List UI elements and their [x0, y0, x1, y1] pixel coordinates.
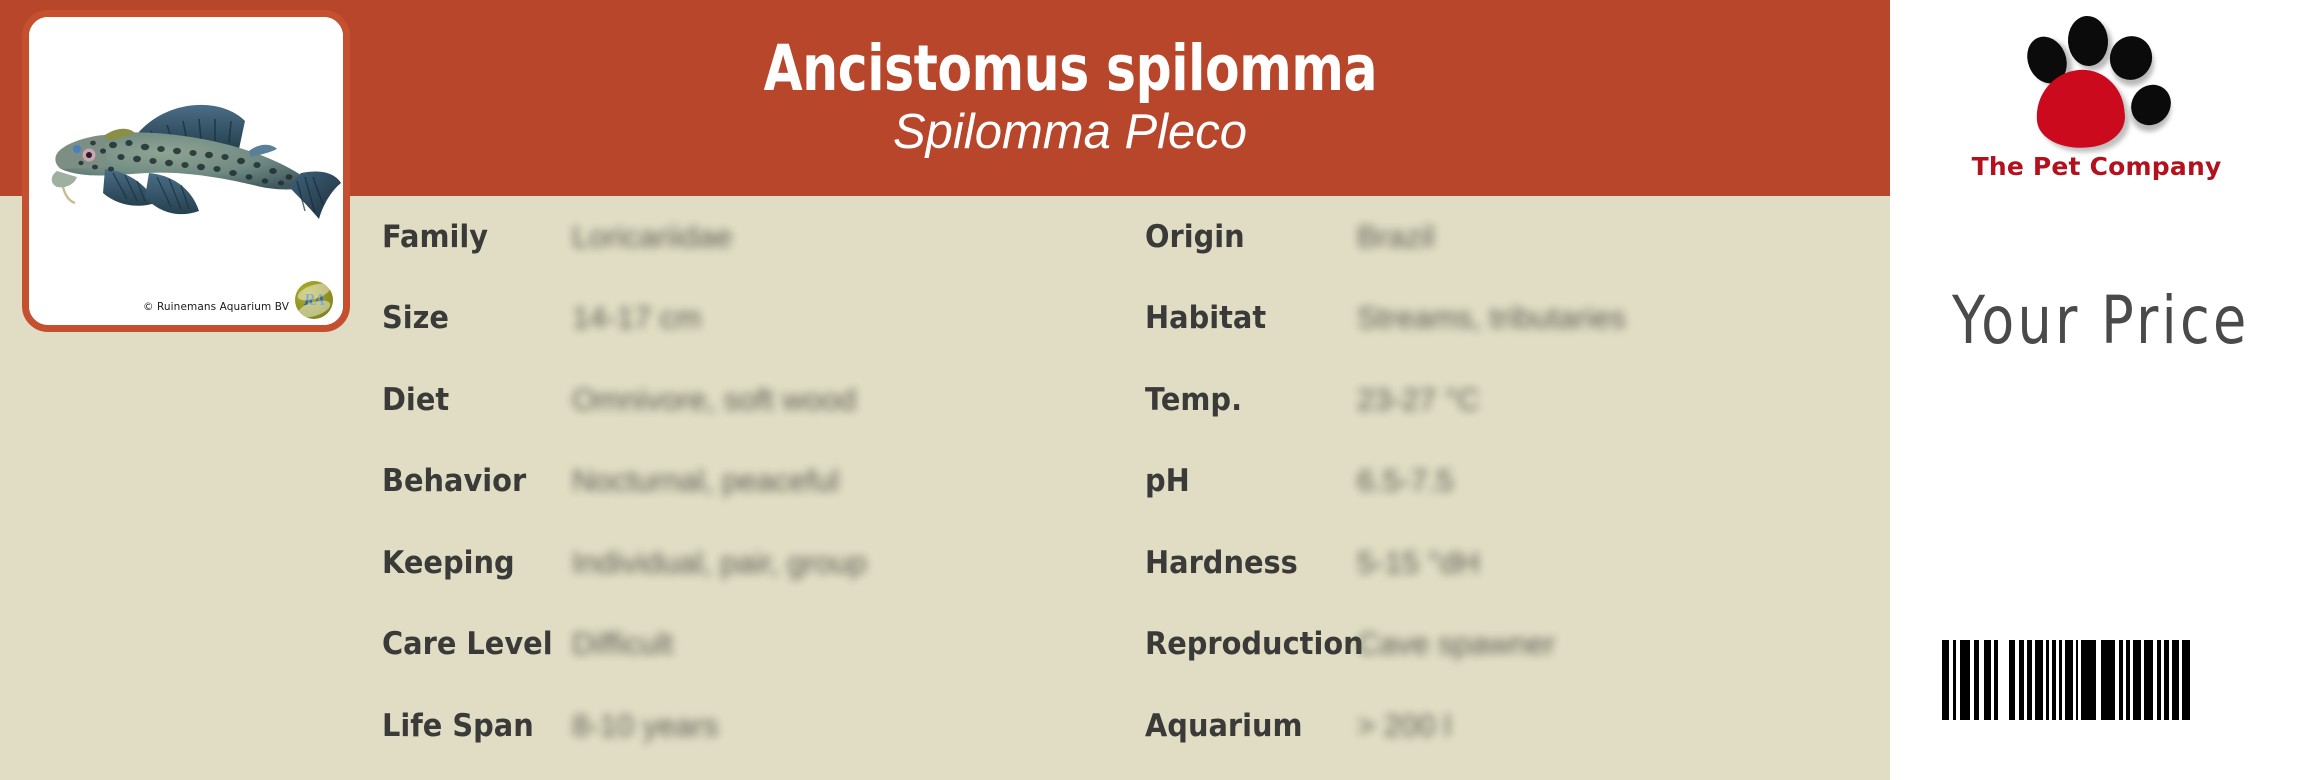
spec-row: Family Loricariidae — [382, 196, 1102, 278]
spec-value: > 200 l — [1357, 708, 1451, 744]
spec-value: Cave spawner — [1357, 626, 1555, 662]
spec-value: Individual, pair, group — [572, 545, 867, 581]
spec-value: 5-15 °dH — [1357, 545, 1480, 581]
spec-value: Omnivore, soft wood — [572, 382, 856, 418]
barcode-bar — [2144, 640, 2153, 720]
spec-row: Keeping Individual, pair, group — [382, 522, 1102, 604]
spec-value: 14-17 cm — [572, 300, 701, 336]
species-photo-card: © Ruinemans Aquarium BV RA — [22, 10, 350, 332]
spec-value: 8-10 years — [572, 708, 718, 744]
spec-label: Habitat — [1145, 300, 1342, 336]
spec-label: Life Span — [382, 708, 559, 744]
price-side-panel: The Pet Company Your Price — [1890, 0, 2303, 780]
barcode-bar — [2065, 640, 2073, 720]
spec-label: Care Level — [382, 626, 559, 662]
spec-row: pH 6.5-7.5 — [1145, 441, 1865, 523]
spec-row: Reproduction Cave spawner — [1145, 604, 1865, 686]
spec-row: Life Span 8-10 years — [382, 685, 1102, 767]
paw-toe — [2123, 77, 2179, 134]
spec-label: Keeping — [382, 545, 559, 581]
spec-column-left: Family Loricariidae Size 14-17 cm Diet O… — [382, 196, 1102, 780]
spec-value: Loricariidae — [572, 219, 732, 255]
spec-row: Diet Omnivore, soft wood — [382, 359, 1102, 441]
spec-value: Streams, tributaries — [1357, 300, 1626, 336]
spec-column-right: Origin Brazil Habitat Streams, tributari… — [1145, 196, 1865, 780]
spec-row: Habitat Streams, tributaries — [1145, 278, 1865, 360]
watermark-swoosh — [296, 297, 333, 321]
paw-toe — [2103, 30, 2158, 87]
spec-value: Nocturnal, peaceful — [572, 463, 839, 499]
spec-value: Difficult — [572, 626, 673, 662]
spec-row: Origin Brazil — [1145, 196, 1865, 278]
spec-label: Behavior — [382, 463, 559, 499]
spec-label: Origin — [1145, 219, 1342, 255]
spec-value: 23-27 °C — [1357, 382, 1480, 418]
spec-label: Diet — [382, 382, 559, 418]
spec-row: Hardness 5-15 °dH — [1145, 522, 1865, 604]
spec-row: Size 14-17 cm — [382, 278, 1102, 360]
brand-logo: The Pet Company — [1890, 6, 2303, 206]
species-photo: © Ruinemans Aquarium BV RA — [29, 17, 343, 325]
spec-label: Aquarium — [1145, 708, 1342, 744]
paw-toe — [2066, 15, 2109, 68]
barcode-bar — [2172, 640, 2179, 720]
your-price-label: Your Price — [1952, 282, 2250, 359]
spec-label: Temp. — [1145, 382, 1342, 418]
spec-label: Reproduction — [1145, 626, 1342, 662]
species-info-label: Ancistomus spilomma Spilomma Pleco Famil… — [0, 0, 2303, 780]
title-block: Ancistomus spilomma Spilomma Pleco — [360, 0, 1780, 196]
spec-value: 6.5-7.5 — [1357, 463, 1454, 499]
spec-label: Hardness — [1145, 545, 1342, 581]
spec-row: Care Level Difficult — [382, 604, 1102, 686]
ruinemans-watermark-icon: RA — [295, 281, 333, 319]
common-name-subtitle: Spilomma Pleco — [893, 107, 1247, 158]
fish-illustration-icon — [43, 87, 343, 237]
barcode-bar — [2101, 640, 2115, 720]
barcode-icon — [1942, 640, 2190, 720]
barcode-bar — [2035, 640, 2043, 720]
spec-label: Family — [382, 219, 559, 255]
spec-row: Aquarium > 200 l — [1145, 685, 1865, 767]
main-panel: Ancistomus spilomma Spilomma Pleco Famil… — [0, 0, 1890, 780]
spec-row: Behavior Nocturnal, peaceful — [382, 441, 1102, 523]
barcode-bar — [1984, 640, 1991, 720]
barcode-bar — [1960, 640, 1970, 720]
barcode-bar — [1942, 640, 1949, 720]
spec-label: pH — [1145, 463, 1342, 499]
photo-credit: © Ruinemans Aquarium BV — [143, 301, 289, 313]
barcode-bar — [2081, 640, 2096, 720]
page-title: Ancistomus spilomma — [763, 37, 1376, 101]
spec-value: Brazil — [1357, 219, 1435, 255]
barcode-bar — [2182, 640, 2190, 720]
brand-name: The Pet Company — [1890, 152, 2303, 181]
spec-row: Temp. 23-27 °C — [1145, 359, 1865, 441]
barcode-bar — [2133, 640, 2141, 720]
paw-print-icon — [2010, 10, 2190, 150]
spec-label: Size — [382, 300, 559, 336]
barcode-gap — [1998, 640, 2009, 720]
